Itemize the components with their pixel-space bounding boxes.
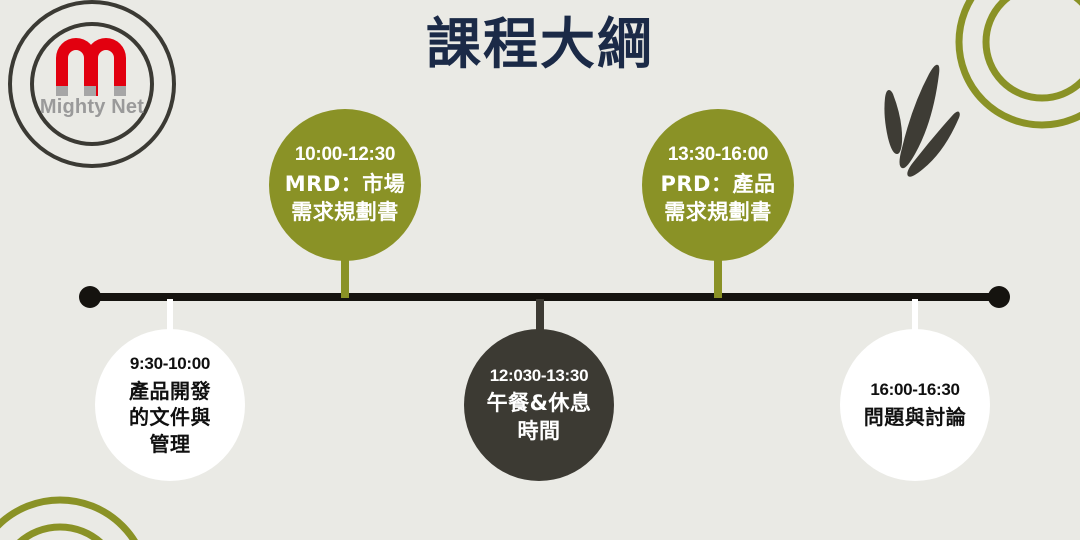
timeline-node-session-1[interactable]: 9:30-10:00 產品開發 的文件與 管理 [95, 329, 245, 481]
node-label-line: 產品開發 [129, 378, 211, 404]
node-label: 產品開發 的文件與 管理 [129, 378, 211, 457]
node-time: 10:00-12:30 [295, 143, 395, 167]
node-label-line: 的文件與 [129, 404, 211, 430]
timeline-node-session-4[interactable]: 13:30-16:00 PRD：產品 需求規劃書 [642, 109, 794, 261]
mighty-net-logo: Mighty Net [8, 0, 184, 176]
node-time: 13:30-16:00 [668, 143, 768, 167]
node-label-line: MRD：市場 [285, 171, 406, 199]
top-right-ring-arcs [959, 0, 1080, 125]
brush-stroke-sparks [884, 65, 959, 177]
magnet-m-icon [54, 36, 130, 98]
node-label-line: PRD：產品 [661, 171, 776, 199]
timeline-start-dot [79, 286, 101, 308]
node-label-line: 管理 [129, 431, 211, 457]
node-time: 16:00-16:30 [870, 379, 959, 400]
node-label: 問題與討論 [864, 404, 967, 430]
node-label-line: 需求規劃書 [661, 199, 776, 227]
node-label-line: 時間 [487, 418, 592, 446]
node-label: MRD：市場 需求規劃書 [285, 171, 406, 226]
node-label-line: 問題與討論 [864, 404, 967, 430]
node-label: PRD：產品 需求規劃書 [661, 171, 776, 226]
timeline-node-session-2[interactable]: 10:00-12:30 MRD：市場 需求規劃書 [269, 109, 421, 261]
timeline-axis [90, 293, 999, 301]
bottom-left-ring-arcs [0, 500, 148, 540]
node-time: 12:030-13:30 [490, 365, 588, 386]
slide-canvas: Mighty Net 課程大綱 10:00-12:30 MRD：市場 需求規劃書… [0, 0, 1080, 540]
logo-wordmark: Mighty Net [8, 96, 176, 119]
node-label-line: 午餐&休息 [487, 390, 592, 418]
timeline-end-dot [988, 286, 1010, 308]
page-title: 課程大綱 [340, 14, 740, 75]
node-label-line: 需求規劃書 [285, 199, 406, 227]
timeline-node-session-3[interactable]: 12:030-13:30 午餐&休息 時間 [464, 329, 614, 481]
node-time: 9:30-10:00 [130, 353, 210, 374]
node-label: 午餐&休息 時間 [487, 390, 592, 445]
timeline-node-session-5[interactable]: 16:00-16:30 問題與討論 [840, 329, 990, 481]
